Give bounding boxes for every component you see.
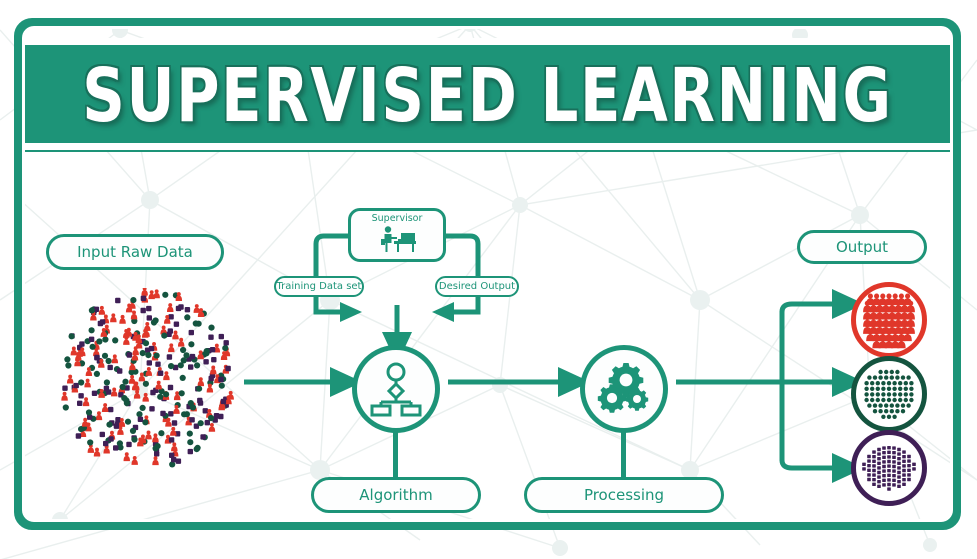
processing-stem (621, 428, 626, 480)
person-at-desk-icon (374, 225, 420, 255)
output-group-green[interactable] (851, 356, 927, 432)
dot-grid-icon (857, 362, 921, 426)
algorithm-stem (393, 428, 398, 480)
output-group-red[interactable] (851, 282, 927, 358)
algorithm-label[interactable]: Algorithm (311, 477, 481, 513)
desired-output-label[interactable]: Desired Output (435, 276, 519, 297)
header-rule-top (23, 38, 952, 45)
processing-label[interactable]: Processing (524, 477, 724, 513)
bar-grid-icon (857, 436, 921, 500)
training-data-set-label[interactable]: Training Data set (274, 276, 364, 297)
input-data-scatter (55, 288, 240, 473)
input-raw-data-label[interactable]: Input Raw Data (46, 234, 224, 270)
output-label[interactable]: Output (797, 230, 927, 264)
supervisor-card[interactable]: Supervisor (348, 208, 446, 262)
algorithm-node[interactable] (352, 345, 440, 433)
people-cluster-icon (857, 288, 921, 352)
page-title: SUPERVISED LEARNING (116, 46, 859, 146)
supervisor-label: Supervisor (372, 213, 423, 224)
processing-node[interactable] (580, 345, 668, 433)
infographic-canvas: SUPERVISED LEARNING (0, 0, 977, 559)
gears-icon (595, 361, 653, 417)
output-group-purple[interactable] (851, 430, 927, 506)
flowchart-icon (368, 361, 424, 417)
